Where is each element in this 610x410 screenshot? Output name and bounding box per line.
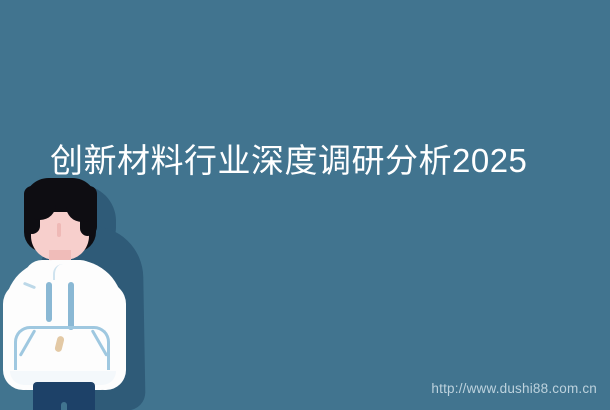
drawstring-right bbox=[68, 282, 74, 330]
drawstring-left bbox=[46, 282, 52, 322]
person-illustration bbox=[0, 178, 190, 410]
nose bbox=[57, 223, 61, 237]
pants-leg-gap bbox=[61, 402, 67, 410]
watermark-url: http://www.dushi88.com.cn bbox=[431, 381, 597, 397]
hood-seam bbox=[53, 264, 67, 280]
poster-canvas: 创新材料行业深度调研分析2025 http://www.dushi88.com.… bbox=[0, 0, 610, 410]
poster-title: 创新材料行业深度调研分析2025 bbox=[50, 141, 527, 181]
